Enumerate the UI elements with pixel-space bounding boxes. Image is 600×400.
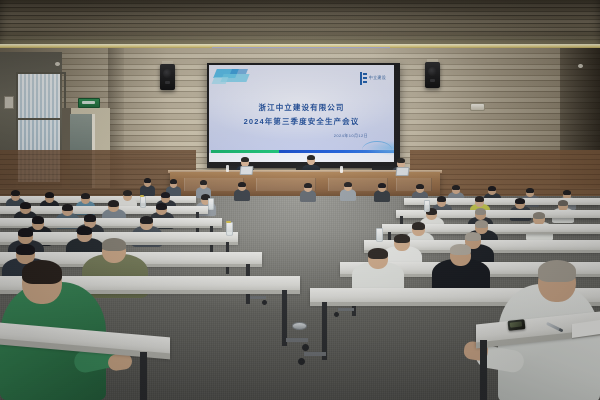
- conference-room-photo: 中立建设 浙江中立建设有限公司 2024年第三季度安全生产会议 2024年10月…: [0, 0, 600, 400]
- attendee-hair: [45, 192, 54, 198]
- water-bottle: [376, 228, 383, 242]
- attendee-hair: [16, 244, 35, 255]
- ceiling-sensor-right-icon: [578, 64, 583, 68]
- desk-foot: [338, 308, 354, 311]
- attendee-hair: [526, 188, 534, 193]
- attendee-hair: [475, 208, 486, 215]
- attendee-hair: [11, 190, 20, 196]
- desk-wheel: [334, 312, 339, 317]
- desk-leg: [480, 340, 487, 400]
- attendee-hair: [394, 234, 410, 243]
- attendee-hair: [144, 178, 151, 183]
- logo-mark-icon: [360, 72, 367, 85]
- water-bottle: [226, 222, 233, 236]
- smartphone[interactable]: [508, 319, 526, 331]
- desk-foot: [286, 338, 308, 342]
- desk-wheel: [298, 358, 305, 365]
- attendee-hair: [412, 222, 425, 230]
- attendee-hair: [452, 185, 460, 190]
- ceiling-highlight: [0, 0, 600, 46]
- speaker-tweeter-icon: [165, 81, 170, 84]
- speaker-cone-right-icon: [428, 67, 437, 76]
- desk-foot: [304, 352, 326, 356]
- attendee-hair: [22, 260, 62, 284]
- attendee-hair: [533, 212, 545, 219]
- attendee-hair: [238, 182, 246, 187]
- company-logo: 中立建设: [360, 72, 386, 85]
- logo-text: 中立建设: [369, 76, 386, 81]
- presidium-bottle: [340, 166, 343, 173]
- presidium-bottle: [226, 165, 229, 172]
- attendee-hair: [465, 232, 481, 241]
- speaker-tweeter-right-icon: [430, 79, 435, 82]
- slide-date: 2024年10月12日: [334, 133, 368, 139]
- attendee-hair: [77, 226, 92, 235]
- wall-mounted-device: [470, 103, 485, 111]
- attendee-hair: [161, 192, 170, 198]
- attendee-hair: [123, 190, 132, 196]
- wall-speaker-left: [160, 64, 175, 90]
- water-bottle: [208, 198, 214, 210]
- slide-band-green: [211, 150, 281, 153]
- attendee-hair: [450, 244, 471, 255]
- desk-foot: [250, 296, 266, 299]
- attendee-hair: [20, 202, 31, 209]
- attendee-hair: [108, 200, 119, 207]
- presidium-panel: [396, 178, 432, 191]
- attendee-hair: [437, 196, 446, 202]
- attendee-hair: [32, 216, 44, 224]
- floor-outlet-cover: [292, 322, 307, 330]
- attendee-hair: [170, 179, 177, 184]
- attendee-hair: [378, 183, 386, 188]
- attendee-hair: [538, 260, 576, 282]
- ceiling-sensor-icon: [55, 62, 60, 66]
- attendee-hair: [304, 183, 312, 188]
- attendee-hair: [344, 182, 352, 187]
- attendee-hair: [81, 193, 90, 199]
- attendee-hair: [475, 220, 488, 228]
- attendee-hair: [156, 203, 167, 210]
- attendee-hair: [140, 216, 153, 224]
- presidium-laptop: [396, 167, 410, 176]
- desk-row-far-right: [404, 198, 600, 205]
- attendee-hair: [62, 204, 73, 211]
- presenter-hair: [241, 157, 249, 162]
- exit-sign-icon: [78, 98, 100, 108]
- projection-screen: 中立建设 浙江中立建设有限公司 2024年第三季度安全生产会议 2024年10月…: [209, 65, 394, 162]
- window-mullion: [18, 118, 60, 120]
- attendee-hair: [200, 180, 207, 185]
- speaker-cone-icon: [163, 69, 172, 78]
- attendee-hair: [515, 198, 525, 204]
- attendee-hair: [488, 186, 496, 191]
- slide-deco-shape-3: [212, 77, 229, 84]
- slide-meeting-title: 2024年第三季度安全生产会议: [209, 116, 394, 127]
- attendee-hair: [368, 248, 388, 259]
- water-bottle: [140, 196, 146, 208]
- presenter-hair: [307, 155, 315, 160]
- attendee-hair: [84, 214, 96, 222]
- bottle-cap: [226, 221, 231, 223]
- presidium-laptop: [240, 166, 254, 175]
- attendee-hair: [102, 238, 126, 251]
- presenter-hair: [397, 158, 405, 163]
- desk-leg: [140, 352, 147, 400]
- wall-switch-box[interactable]: [4, 96, 14, 109]
- wall-speaker-right: [425, 62, 440, 88]
- bottle-cap: [140, 195, 144, 197]
- attendee-hair: [416, 184, 424, 189]
- desk-wheel: [262, 300, 267, 305]
- attendee-hair: [563, 190, 571, 195]
- attendee-hair: [18, 228, 33, 237]
- attendee-hair: [475, 196, 484, 202]
- desk-wheel: [302, 344, 309, 351]
- presidium-panel: [184, 178, 244, 191]
- attendee-hair: [558, 200, 568, 206]
- slide-company-name: 浙江中立建设有限公司: [209, 102, 394, 113]
- water-bottle: [424, 200, 430, 212]
